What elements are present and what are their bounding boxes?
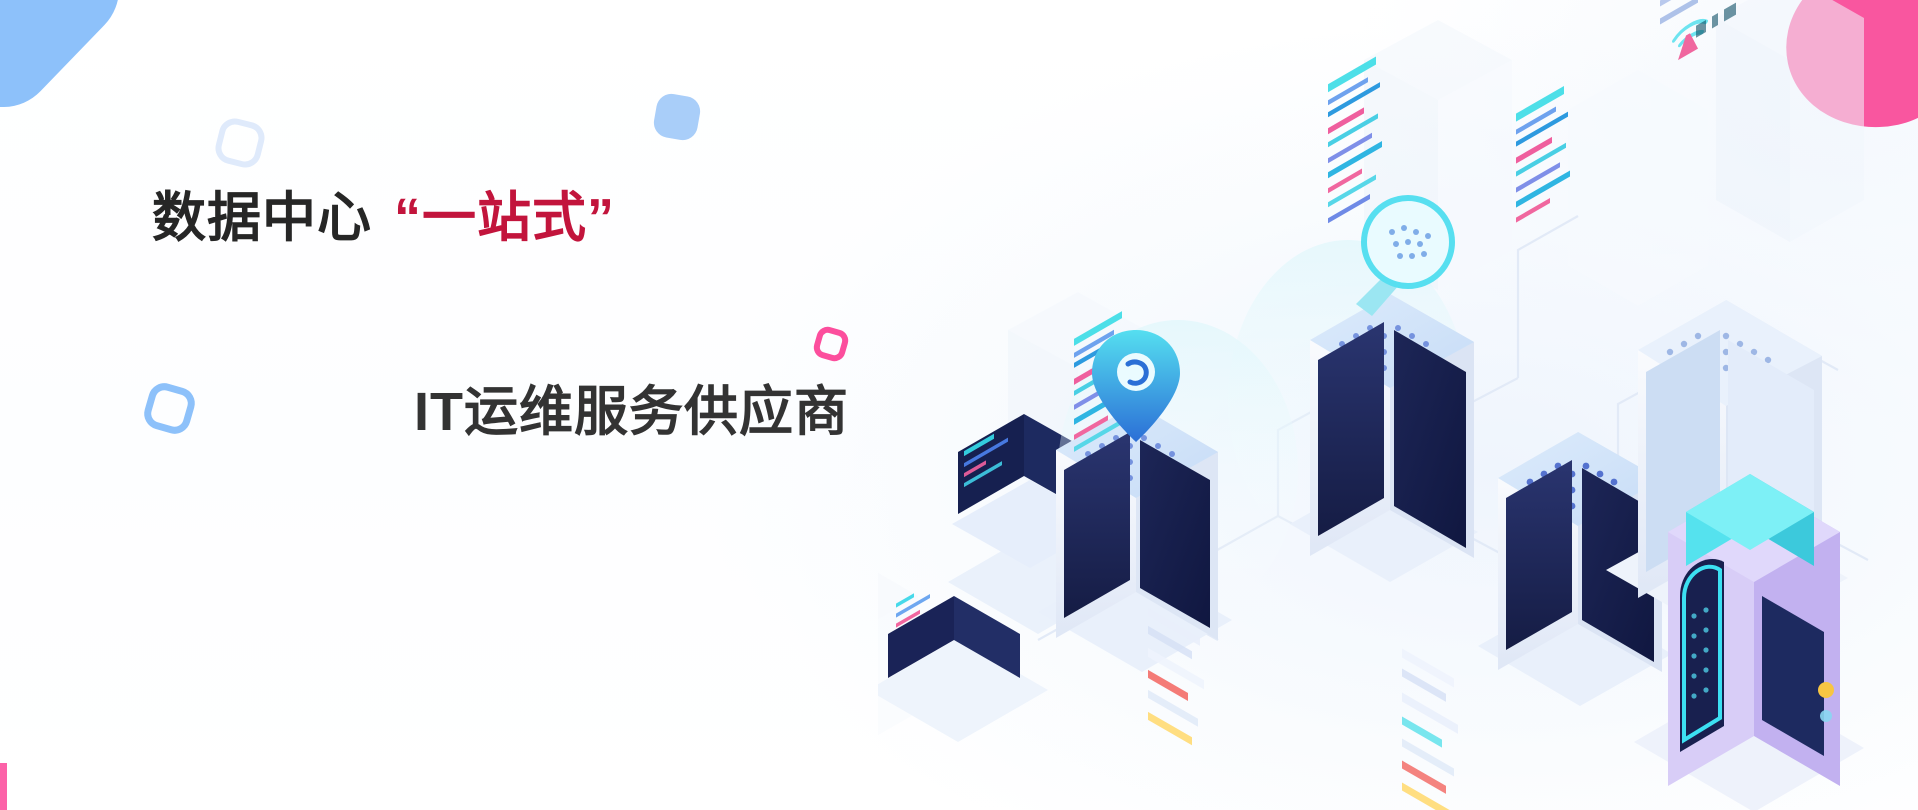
headline-line-2: IT运维服务供应商 (152, 251, 932, 446)
tall-server-top-right (1606, 0, 1848, 810)
monitor-small (878, 593, 1048, 742)
edge-pink-bar (0, 763, 7, 810)
dot-blue-icon (652, 92, 703, 143)
magnifier-icon (1356, 198, 1452, 316)
orange-coin (1698, 563, 1801, 673)
isometric-data-center-illustration (878, 0, 1918, 810)
background-buildings (1008, 0, 1864, 508)
hero-banner: 数据中心“一站式” IT运维服务供应商 (0, 0, 1918, 810)
server-rack-right (1478, 86, 1672, 810)
server-rack-left (1038, 311, 1232, 745)
network-lines (996, 216, 1868, 640)
headline-line-1-red: “一站式” (394, 188, 615, 248)
cube-watermark (878, 538, 918, 770)
location-pin (1092, 330, 1180, 442)
corner-blue-shape (0, 0, 141, 129)
ring-blue-light-icon (212, 115, 268, 171)
headline-line-1: 数据中心“一站式” (152, 186, 932, 251)
mobile-device (1638, 16, 1780, 580)
corner-pink-blob (1771, 0, 1918, 144)
headline-block: 数据中心“一站式” IT运维服务供应商 (152, 186, 932, 446)
monitor-left (948, 414, 1128, 634)
server-rack-center (1290, 56, 1478, 810)
headline-line-1-dark: 数据中心 (152, 188, 372, 248)
cooling-unit (1634, 3, 1864, 810)
